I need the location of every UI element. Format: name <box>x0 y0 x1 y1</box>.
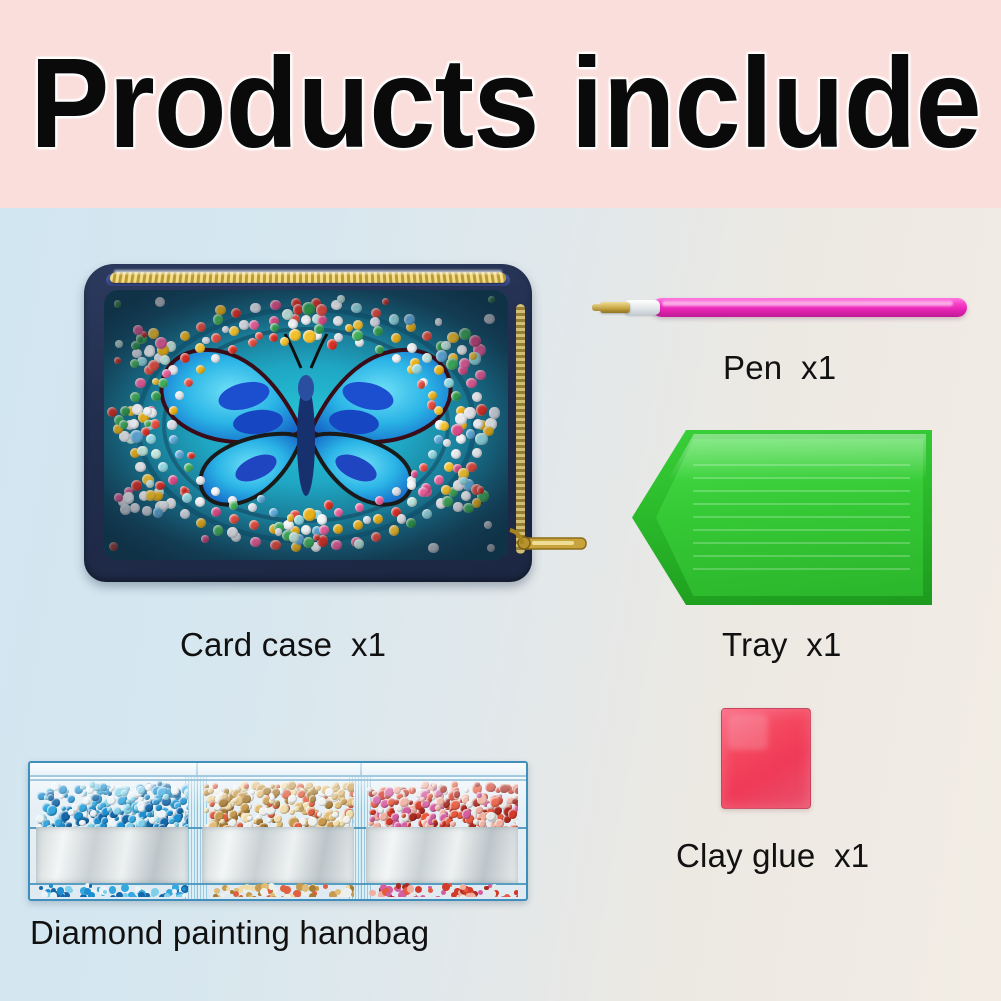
rhinestone <box>372 795 382 805</box>
rhinestone <box>309 795 316 802</box>
rhinestone <box>451 424 463 436</box>
rhinestone <box>290 331 299 340</box>
rhinestone <box>378 808 384 814</box>
rhinestone <box>291 542 301 552</box>
rhinestone <box>391 507 401 517</box>
rhinestone <box>418 487 428 497</box>
rhinestone <box>469 352 482 365</box>
rhinestone <box>432 819 437 824</box>
rhinestone <box>250 790 255 795</box>
rhinestone <box>332 812 339 819</box>
rhinestone <box>312 314 322 324</box>
rhinestone <box>428 450 437 459</box>
rhinestone <box>472 448 482 458</box>
rhinestone <box>448 353 458 363</box>
tray-grooves <box>693 464 909 574</box>
rhinestone <box>477 486 484 493</box>
rhinestone <box>352 330 363 341</box>
rhinestone <box>184 463 193 472</box>
tray-gloss <box>668 434 926 480</box>
rhinestone <box>59 794 64 799</box>
rhinestone <box>337 789 345 797</box>
rhinestone <box>471 484 482 495</box>
rhinestone <box>475 370 486 381</box>
rhinestone <box>419 463 428 472</box>
rhinestone <box>396 883 401 888</box>
rhinestone <box>135 462 145 472</box>
rhinestone <box>142 474 153 485</box>
rhinestone <box>469 335 481 347</box>
rhinestone <box>487 544 495 552</box>
rhinestone <box>363 516 371 524</box>
card-case-body <box>84 264 532 582</box>
rhinestone <box>269 524 279 534</box>
rhinestone <box>116 892 123 897</box>
rhinestone <box>154 353 164 363</box>
rhinestone <box>392 487 401 496</box>
rhinestone <box>436 498 446 508</box>
rhinestone <box>351 537 361 547</box>
rhinestone <box>202 337 209 344</box>
rhinestone <box>274 522 283 531</box>
rhinestone <box>172 889 177 894</box>
product-infographic: Products include <box>0 0 1001 1001</box>
rhinestone <box>270 795 275 800</box>
rhinestone <box>157 344 169 356</box>
rhinestone <box>155 297 165 307</box>
rhinestone <box>269 333 278 342</box>
rhinestone <box>415 886 422 893</box>
rhinestone <box>464 788 469 793</box>
rhinestone <box>369 809 375 815</box>
rhinestone <box>411 787 416 792</box>
rhinestone <box>442 496 453 507</box>
rhinestone <box>317 817 326 826</box>
rhinestone <box>65 886 71 892</box>
rhinestone <box>324 500 333 509</box>
rhinestone <box>303 508 316 521</box>
rhinestone <box>257 495 265 503</box>
rhinestone <box>451 892 457 897</box>
rhinestone <box>141 427 150 436</box>
rhinestone <box>434 475 444 485</box>
rhinestone <box>182 493 192 503</box>
rhinestone <box>453 480 464 491</box>
rhinestone <box>407 343 417 353</box>
rhinestone <box>41 891 47 897</box>
rhinestone <box>287 514 294 521</box>
rhinestone-pouch <box>202 781 354 827</box>
rhinestone <box>250 537 260 547</box>
rhinestone <box>422 509 432 519</box>
rhinestone <box>353 520 363 530</box>
clay-glue-body <box>721 708 811 809</box>
rhinestone <box>49 884 53 888</box>
rhinestone <box>130 392 140 402</box>
rhinestone <box>290 510 299 519</box>
pen-figure <box>588 292 973 332</box>
rhinestone <box>131 341 140 350</box>
rhinestone <box>121 790 128 797</box>
rhinestone <box>175 391 184 400</box>
rhinestone <box>484 314 494 324</box>
handbag-label: Diamond painting handbag <box>30 914 429 952</box>
bag-zip-strip <box>30 763 526 777</box>
rhinestone <box>406 518 416 528</box>
rhinestone <box>435 420 444 429</box>
foil-packet <box>202 827 354 883</box>
rhinestone <box>407 476 416 485</box>
rhinestone <box>282 309 293 320</box>
rhinestone <box>422 331 432 341</box>
rhinestone <box>151 391 161 401</box>
rhinestone <box>477 420 487 430</box>
rhinestone <box>311 542 321 552</box>
rhinestone <box>312 526 322 536</box>
rhinestone <box>146 406 156 416</box>
rhinestone <box>137 357 146 366</box>
rhinestone <box>196 322 206 332</box>
rhinestone <box>180 509 190 519</box>
rhinestone <box>283 520 294 531</box>
rhinestone <box>351 892 354 897</box>
rhinestone <box>407 885 415 893</box>
rhinestone <box>124 487 134 497</box>
rhinestone <box>138 412 149 423</box>
rhinestone <box>459 328 471 340</box>
rhinestone <box>248 503 257 512</box>
rhinestone <box>248 338 257 347</box>
rhinestone <box>135 378 145 388</box>
rhinestone <box>125 420 135 430</box>
rhinestone <box>455 413 467 425</box>
rhinestone <box>155 337 167 349</box>
rhinestone <box>382 298 389 305</box>
rhinestone <box>355 503 364 512</box>
rhinestone <box>399 797 409 807</box>
rhinestone <box>146 434 156 444</box>
rhinestone <box>231 308 241 318</box>
rhinestone <box>288 319 298 329</box>
rhinestone <box>247 816 252 821</box>
rhinestone <box>436 350 447 361</box>
rhinestone <box>280 337 289 346</box>
rhinestone <box>144 803 153 812</box>
rhinestone <box>301 525 312 536</box>
rhinestone <box>308 817 318 827</box>
rhinestone <box>120 406 130 416</box>
zipper-side <box>516 304 525 554</box>
zipper-pull-icon <box>506 526 592 564</box>
rhinestone <box>119 431 130 442</box>
rhinestone <box>180 331 190 341</box>
rhinestone <box>269 316 279 326</box>
rhinestone <box>229 501 238 510</box>
rhinestone <box>129 419 140 430</box>
rhinestone <box>146 480 154 488</box>
rhinestone <box>184 378 193 387</box>
rhinestone <box>484 521 492 529</box>
rhinestone <box>313 534 320 541</box>
rhinestone <box>211 354 220 363</box>
rhinestone <box>89 884 93 888</box>
rhinestone <box>89 781 96 788</box>
rhinestone <box>148 360 160 372</box>
rhinestone <box>340 798 347 805</box>
rhinestone <box>303 537 314 548</box>
rhinestone <box>255 332 263 340</box>
rhinestone <box>113 424 123 434</box>
rhinestone <box>131 480 143 492</box>
rhinestone <box>211 487 220 496</box>
rhinestone <box>290 314 300 324</box>
foil-packet <box>36 827 188 883</box>
rhinestone <box>182 893 188 897</box>
rhinestone <box>435 318 442 325</box>
rhinestone <box>109 788 113 792</box>
rhinestone <box>83 791 87 795</box>
rhinestone <box>158 462 168 472</box>
rhinestone <box>319 525 329 535</box>
rhinestone <box>353 818 354 824</box>
rhinestone <box>337 295 345 303</box>
rhinestone <box>476 404 487 415</box>
rhinestone <box>345 324 353 332</box>
rhinestone <box>450 800 459 809</box>
rhinestone <box>473 419 484 430</box>
card-case-label: Card case x1 <box>180 626 386 664</box>
rhinestone <box>453 502 462 511</box>
rhinestone <box>268 883 275 890</box>
rhinestone <box>488 296 495 303</box>
rhinestone <box>434 406 443 415</box>
rhinestone <box>315 785 321 791</box>
rhinestone <box>239 320 249 330</box>
rhinestone <box>453 790 460 797</box>
rhinestone <box>195 497 205 507</box>
rhinestone <box>422 353 432 363</box>
rhinestone <box>492 884 497 889</box>
rhinestone <box>270 323 279 332</box>
rhinestone <box>118 496 129 507</box>
rhinestone <box>294 806 300 812</box>
rhinestone <box>221 893 226 897</box>
rhinestone <box>128 892 134 897</box>
rhinestone <box>388 807 394 813</box>
rhinestone <box>269 508 278 517</box>
rhinestone <box>130 359 139 368</box>
rhinestone <box>228 496 237 505</box>
rhinestone <box>451 391 461 401</box>
rhinestone <box>213 314 223 324</box>
rhinestone <box>144 475 154 485</box>
rhinestone <box>314 324 324 334</box>
rhinestone <box>354 539 364 549</box>
rhinestone <box>387 798 394 805</box>
card-case-figure <box>78 258 548 598</box>
rhinestone <box>448 487 458 497</box>
rhinestone <box>407 480 417 490</box>
rhinestone <box>427 400 437 410</box>
rhinestone <box>196 476 205 485</box>
rhinestone <box>302 302 315 315</box>
clay-glue-figure <box>721 708 811 809</box>
rhinestone <box>441 820 447 826</box>
rhinestone <box>478 890 483 895</box>
rhinestone <box>477 490 489 502</box>
rhinestone <box>213 525 223 535</box>
rhinestone-sliver <box>366 883 518 897</box>
clay-glue-label: Clay glue x1 <box>676 837 869 875</box>
rhinestone <box>187 452 194 459</box>
rhinestone <box>346 782 354 792</box>
rhinestone <box>232 798 237 803</box>
rhinestone <box>142 506 152 516</box>
rhinestone <box>472 392 482 402</box>
rhinestone <box>123 492 134 503</box>
rhinestone <box>126 406 136 416</box>
rhinestone <box>333 820 340 827</box>
rhinestone <box>132 349 141 358</box>
rhinestone <box>155 501 167 513</box>
rhinestone <box>237 896 244 897</box>
rhinestone <box>180 487 190 497</box>
rhinestone <box>407 365 416 374</box>
rhinestone <box>450 810 457 817</box>
page-title: Products include <box>30 40 981 168</box>
rhinestone <box>39 886 43 890</box>
rhinestone <box>483 426 493 436</box>
rhinestone <box>291 298 301 308</box>
rhinestone <box>137 819 146 827</box>
rhinestone <box>369 816 375 822</box>
rhinestone <box>462 809 471 818</box>
rhinestone <box>485 418 496 429</box>
rhinestone <box>195 343 205 353</box>
rhinestone <box>489 407 500 418</box>
rhinestone <box>107 407 117 417</box>
rhinestone <box>148 784 152 788</box>
rhinestone <box>312 331 321 340</box>
rhinestone <box>114 357 121 364</box>
rhinestone <box>152 378 159 385</box>
rhinestone <box>250 303 260 313</box>
rhinestone <box>457 420 467 430</box>
rhinestone <box>211 333 221 343</box>
rhinestone <box>169 406 178 415</box>
rhinestone <box>126 799 131 804</box>
rhinestone <box>316 304 328 316</box>
rhinestone <box>333 316 343 326</box>
rhinestone <box>147 408 157 418</box>
rhinestone <box>391 333 401 343</box>
rhinestone <box>456 406 466 416</box>
rhinestone <box>334 333 343 342</box>
rhinestone <box>371 532 381 542</box>
rhinestone <box>290 526 300 536</box>
rhinestone <box>407 822 412 827</box>
rhinestone <box>155 481 165 491</box>
pen-label: Pen x1 <box>723 349 836 387</box>
rhinestone <box>282 530 293 541</box>
rhinestone <box>137 446 147 456</box>
rhinestone <box>504 895 510 897</box>
rhinestone <box>159 501 169 511</box>
rhinestone <box>121 884 129 892</box>
rhinestone <box>139 491 150 502</box>
rhinestone <box>392 354 401 363</box>
rhinestone <box>302 884 309 891</box>
rhinestone <box>249 320 259 330</box>
rhinestone <box>166 498 176 508</box>
pen-tip <box>600 302 630 313</box>
rhinestone <box>428 888 434 894</box>
rhinestone-sliver <box>202 883 354 897</box>
rhinestone <box>120 504 131 515</box>
rhinestone <box>47 794 54 801</box>
header-banner: Products include <box>0 0 1001 208</box>
rhinestone <box>196 518 206 528</box>
rhinestone <box>168 818 175 825</box>
rhinestone <box>153 507 163 517</box>
rhinestone <box>444 378 454 388</box>
rhinestone <box>283 886 291 894</box>
rhinestone <box>389 314 399 324</box>
rhinestone <box>406 322 416 332</box>
rhinestone <box>176 895 180 897</box>
rhinestone <box>67 795 75 803</box>
rhinestone <box>275 528 283 536</box>
rhinestone <box>289 532 299 542</box>
rhinestone <box>288 795 297 804</box>
rhinestone <box>466 378 476 388</box>
rhinestone <box>375 345 384 354</box>
rhinestone <box>408 812 417 821</box>
rhinestone <box>175 450 184 459</box>
tray-figure <box>632 430 932 605</box>
rhinestone <box>144 420 151 427</box>
rhinestone <box>114 300 122 308</box>
rhinestone <box>466 429 475 438</box>
rhinestone <box>476 434 486 444</box>
rhinestone <box>90 810 97 817</box>
rhinestone <box>407 497 417 507</box>
rhinestone-pouch <box>366 781 518 827</box>
rhinestone <box>51 782 60 791</box>
rhinestone <box>428 543 438 553</box>
rhinestone <box>228 345 237 354</box>
pen-barrel <box>652 298 967 317</box>
rhinestone <box>229 810 237 818</box>
rhinestone <box>435 805 441 811</box>
rhinestone <box>458 475 468 485</box>
rhinestone <box>434 365 444 375</box>
rhinestone <box>473 344 485 356</box>
rhinestone <box>107 796 116 805</box>
rhinestone <box>221 793 228 800</box>
rhinestone <box>446 358 458 370</box>
rhinestone <box>145 490 156 501</box>
rhinestone <box>375 496 384 505</box>
rhinestone <box>117 796 126 805</box>
rhinestone <box>355 338 364 347</box>
rhinestone <box>229 514 239 524</box>
rhinestone <box>369 890 376 897</box>
rhinestone <box>312 510 321 519</box>
rhinestone <box>294 534 305 545</box>
rhinestone <box>311 298 321 308</box>
rhinestone <box>133 325 143 335</box>
